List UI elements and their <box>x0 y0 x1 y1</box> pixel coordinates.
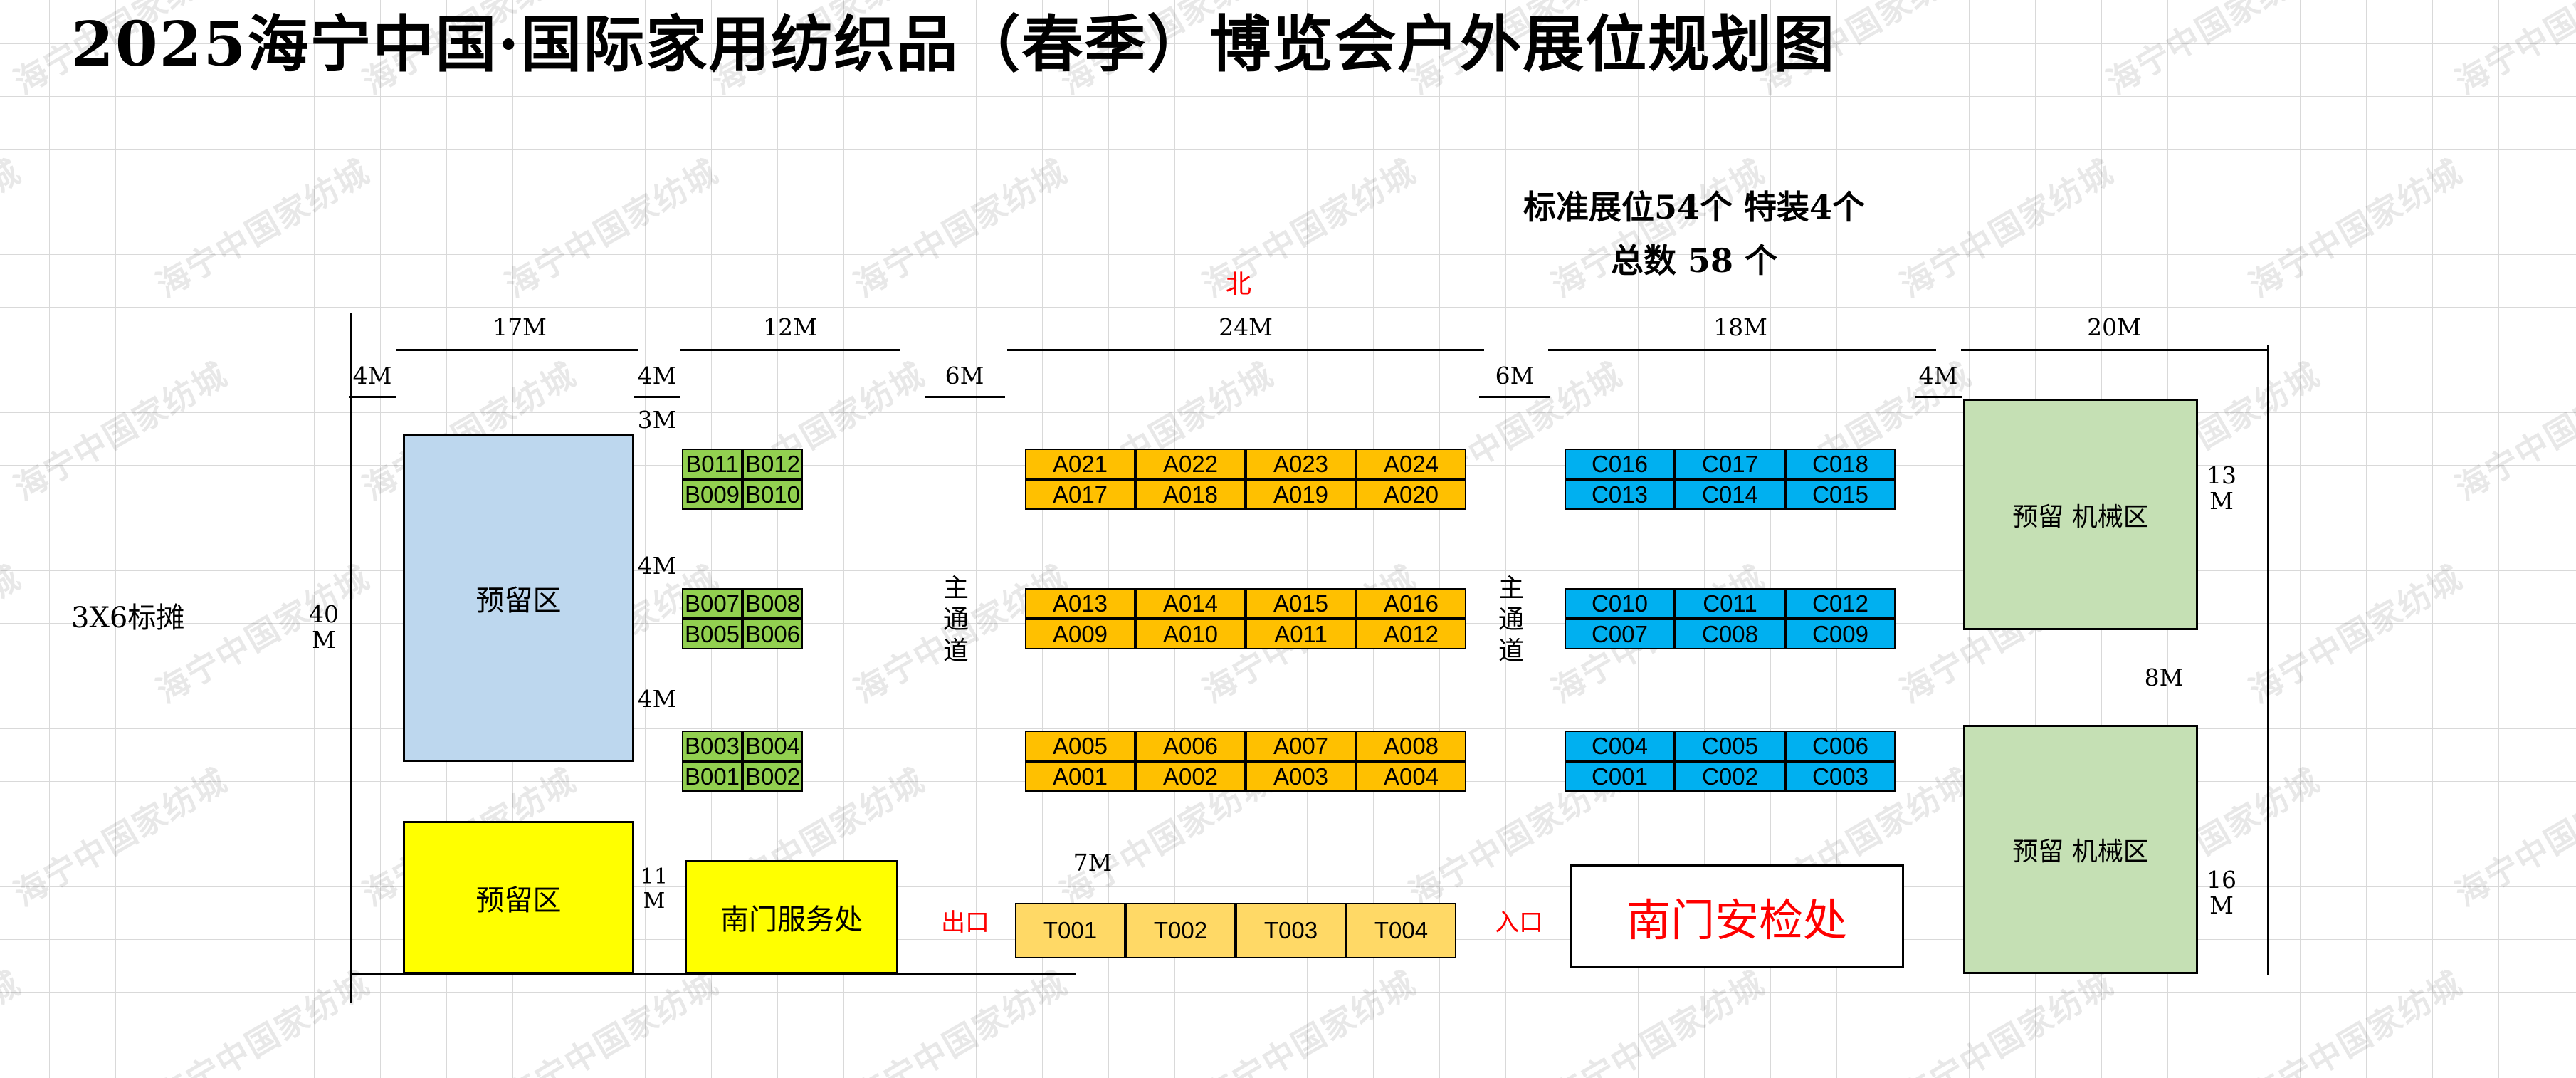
gap-4m-right: 4M <box>1915 362 1962 389</box>
booth-A015[interactable]: A015 <box>1246 588 1356 619</box>
zone-reserved-yellow[interactable]: 预留区 <box>403 821 634 974</box>
booth-C013[interactable]: C013 <box>1565 479 1675 510</box>
booth-C012[interactable]: C012 <box>1785 588 1896 619</box>
booth-A021[interactable]: A021 <box>1025 449 1135 479</box>
gap-6m-aisle-left: 6M <box>925 362 1004 389</box>
total-depth-40m: 40 M <box>307 602 340 653</box>
booth-B007[interactable]: B007 <box>682 588 742 619</box>
booth-B004[interactable]: B004 <box>742 731 803 761</box>
dimension-12m: 12M <box>683 313 897 341</box>
zone-reserved-blue-label: 预留区 <box>476 577 562 619</box>
booth-B009[interactable]: B009 <box>682 479 742 510</box>
dimension-17m: 17M <box>402 313 637 341</box>
booth-C009[interactable]: C009 <box>1785 619 1896 649</box>
site-right-boundary <box>2267 345 2269 975</box>
zone-machine-reserve-top-label: 预留 机械区 <box>2012 496 2148 533</box>
aisle-4m-upper: 4M <box>634 552 680 580</box>
booth-A002[interactable]: A002 <box>1135 761 1246 792</box>
summary-standard-booths: 标准展位54个 特装4个 <box>1409 182 1979 229</box>
rule-12m <box>680 349 900 351</box>
booth-T003[interactable]: T003 <box>1236 903 1346 958</box>
gap-4m-left: 4M <box>349 362 396 389</box>
booth-C002[interactable]: C002 <box>1675 761 1785 792</box>
booth-A022[interactable]: A022 <box>1135 449 1246 479</box>
booth-C018[interactable]: C018 <box>1785 449 1896 479</box>
booth-C010[interactable]: C010 <box>1565 588 1675 619</box>
service-desk-label: 南门服务处 <box>720 896 863 938</box>
dimension-18m: 18M <box>1552 313 1929 341</box>
zone-reserved-yellow-label: 预留区 <box>476 877 562 919</box>
booth-A008[interactable]: A008 <box>1356 731 1466 761</box>
dimension-24m: 24M <box>1011 313 1481 341</box>
booth-C014[interactable]: C014 <box>1675 479 1785 510</box>
booth-C006[interactable]: C006 <box>1785 731 1896 761</box>
booth-A006[interactable]: A006 <box>1135 731 1246 761</box>
booth-A016[interactable]: A016 <box>1356 588 1466 619</box>
main-aisle-left-label: 主 通 道 <box>940 573 972 667</box>
rule-gap-4m-right <box>1915 396 1962 398</box>
booth-C016[interactable]: C016 <box>1565 449 1675 479</box>
booth-T004[interactable]: T004 <box>1346 903 1456 958</box>
booth-T002[interactable]: T002 <box>1125 903 1236 958</box>
booth-A013[interactable]: A013 <box>1025 588 1135 619</box>
booth-A023[interactable]: A023 <box>1246 449 1356 479</box>
booth-A019[interactable]: A019 <box>1246 479 1356 510</box>
zone-machine-reserve-top[interactable]: 预留 机械区 <box>1963 399 2198 630</box>
booth-C005[interactable]: C005 <box>1675 731 1785 761</box>
booth-C017[interactable]: C017 <box>1675 449 1785 479</box>
booth-A024[interactable]: A024 <box>1356 449 1466 479</box>
booth-C015[interactable]: C015 <box>1785 479 1896 510</box>
exit-label: 出口 <box>941 903 989 938</box>
rule-18m <box>1548 349 1936 351</box>
booth-B003[interactable]: B003 <box>682 731 742 761</box>
dimension-20m: 20M <box>1965 313 2264 341</box>
zone-machine-reserve-bottom-label: 预留 机械区 <box>2012 831 2148 868</box>
gap-6m-aisle-right: 6M <box>1479 362 1550 389</box>
booth-A020[interactable]: A020 <box>1356 479 1466 510</box>
booth-A017[interactable]: A017 <box>1025 479 1135 510</box>
dimension-8m: 8M <box>2135 664 2192 691</box>
booth-size-label: 3X6标摊 <box>71 595 184 636</box>
booth-A009[interactable]: A009 <box>1025 619 1135 649</box>
booth-C011[interactable]: C011 <box>1675 588 1785 619</box>
dimension-3m: 3M <box>634 406 680 434</box>
main-aisle-right-label: 主 通 道 <box>1495 573 1528 667</box>
booth-C004[interactable]: C004 <box>1565 731 1675 761</box>
page-title: 2025海宁中国·国际家用纺织品（春季）博览会户外展位规划图 <box>71 6 2420 84</box>
booth-A018[interactable]: A018 <box>1135 479 1246 510</box>
booth-B008[interactable]: B008 <box>742 588 803 619</box>
booth-A001[interactable]: A001 <box>1025 761 1135 792</box>
compass-north-label: 北 <box>1217 263 1260 300</box>
south-gate-security-label: 南门安检处 <box>1626 884 1847 948</box>
zone-service-desk[interactable]: 南门服务处 <box>685 860 898 974</box>
rule-24m <box>1007 349 1484 351</box>
rule-gap-4m-left <box>349 396 396 398</box>
booth-A003[interactable]: A003 <box>1246 761 1356 792</box>
rule-17m <box>396 349 638 351</box>
booth-C007[interactable]: C007 <box>1565 619 1675 649</box>
dimension-11m: 11 M <box>638 865 671 914</box>
rule-gap-4m-b-left <box>634 396 680 398</box>
booth-C008[interactable]: C008 <box>1675 619 1785 649</box>
rule-gap-6m-left <box>925 396 1005 398</box>
booth-A007[interactable]: A007 <box>1246 731 1356 761</box>
aisle-4m-lower: 4M <box>634 685 680 713</box>
booth-B011[interactable]: B011 <box>682 449 742 479</box>
entrance-label: 入口 <box>1495 903 1543 938</box>
booth-B005[interactable]: B005 <box>682 619 742 649</box>
dimension-16m: 16 M <box>2205 867 2238 919</box>
booth-B001[interactable]: B001 <box>682 761 742 792</box>
booth-A012[interactable]: A012 <box>1356 619 1466 649</box>
dimension-13m: 13 M <box>2205 463 2238 514</box>
booth-C003[interactable]: C003 <box>1785 761 1896 792</box>
site-left-boundary <box>350 313 352 975</box>
booth-A011[interactable]: A011 <box>1246 619 1356 649</box>
booth-A004[interactable]: A004 <box>1356 761 1466 792</box>
booth-T001[interactable]: T001 <box>1015 903 1125 958</box>
booth-B006[interactable]: B006 <box>742 619 803 649</box>
site-left-boundary-foot <box>350 975 352 1003</box>
booth-A010[interactable]: A010 <box>1135 619 1246 649</box>
zone-machine-reserve-bottom[interactable]: 预留 机械区 <box>1963 725 2198 974</box>
booth-A014[interactable]: A014 <box>1135 588 1246 619</box>
zone-reserved-blue[interactable]: 预留区 <box>403 434 634 762</box>
booth-A005[interactable]: A005 <box>1025 731 1135 761</box>
south-gate-security-box[interactable]: 南门安检处 <box>1570 864 1904 968</box>
dimension-7m: 7M <box>1061 849 1125 876</box>
booth-B002[interactable]: B002 <box>742 761 803 792</box>
booth-B012[interactable]: B012 <box>742 449 803 479</box>
rule-gap-6m-right <box>1479 396 1550 398</box>
booth-C001[interactable]: C001 <box>1565 761 1675 792</box>
booth-B010[interactable]: B010 <box>742 479 803 510</box>
summary-total-booths: 总数 58 个 <box>1409 235 1979 282</box>
rule-20m <box>1961 349 2267 351</box>
gap-4m-b-left: 4M <box>634 362 680 389</box>
